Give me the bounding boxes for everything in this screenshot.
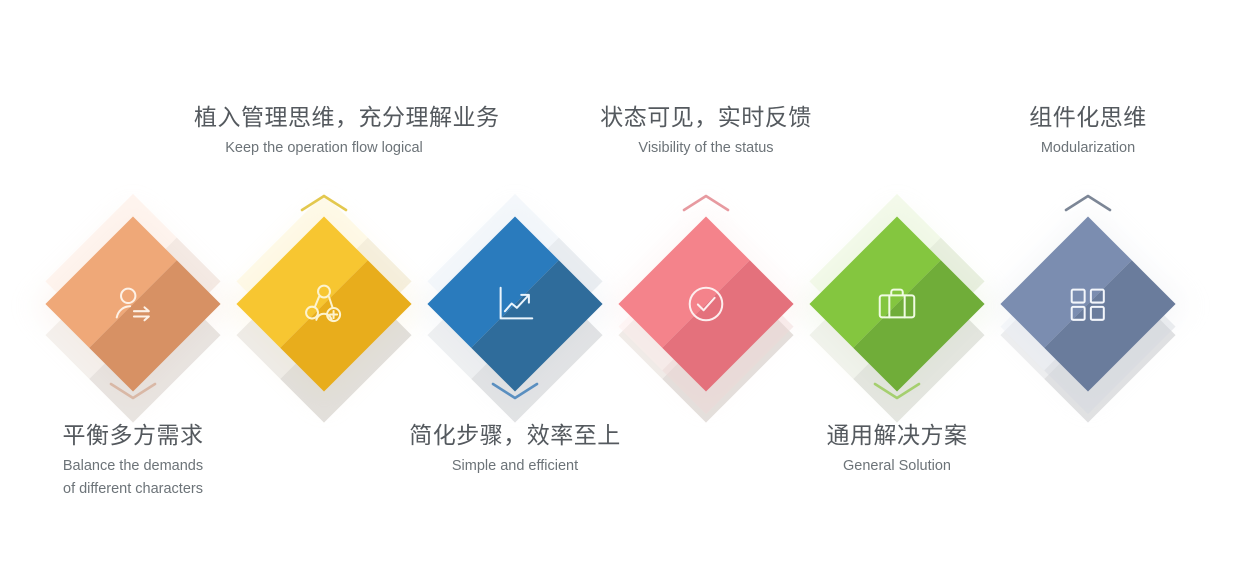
diamond-body[interactable] bbox=[427, 216, 602, 391]
diagram-node-modular[interactable]: 组件化思维Modularization bbox=[988, 0, 1188, 578]
diamond-balance[interactable] bbox=[33, 212, 233, 397]
diamond-visibility[interactable] bbox=[606, 212, 806, 397]
chevron-up-icon bbox=[678, 190, 734, 216]
diamond-management[interactable] bbox=[224, 212, 424, 397]
chevron-up-icon bbox=[1060, 190, 1116, 216]
diagram-node-simple[interactable]: 简化步骤，效率至上Simple and efficient bbox=[415, 0, 615, 578]
chevron-up-icon bbox=[296, 190, 352, 216]
diagram-node-management[interactable]: 植入管理思维，充分理解业务Keep the operation flow log… bbox=[224, 0, 424, 578]
diagram-node-general[interactable]: 通用解决方案General Solution bbox=[797, 0, 997, 578]
diamond-body[interactable] bbox=[45, 216, 220, 391]
diagram-node-visibility[interactable]: 状态可见，实时反馈Visibility of the status bbox=[606, 0, 806, 578]
diamond-body[interactable] bbox=[236, 216, 411, 391]
diamond-body[interactable] bbox=[618, 216, 793, 391]
diamond-general[interactable] bbox=[797, 212, 997, 397]
diagram-node-balance[interactable]: 平衡多方需求Balance the demandsof different ch… bbox=[33, 0, 233, 578]
diamond-body[interactable] bbox=[1000, 216, 1175, 391]
diamond-simple[interactable] bbox=[415, 212, 615, 397]
diamond-modular[interactable] bbox=[988, 212, 1188, 397]
infographic-canvas: 平衡多方需求Balance the demandsof different ch… bbox=[0, 0, 1242, 578]
label-en: Modularization bbox=[958, 137, 1218, 159]
diamond-body[interactable] bbox=[809, 216, 984, 391]
label-cn: 组件化思维 bbox=[958, 100, 1218, 134]
label-modular: 组件化思维Modularization bbox=[958, 100, 1218, 159]
